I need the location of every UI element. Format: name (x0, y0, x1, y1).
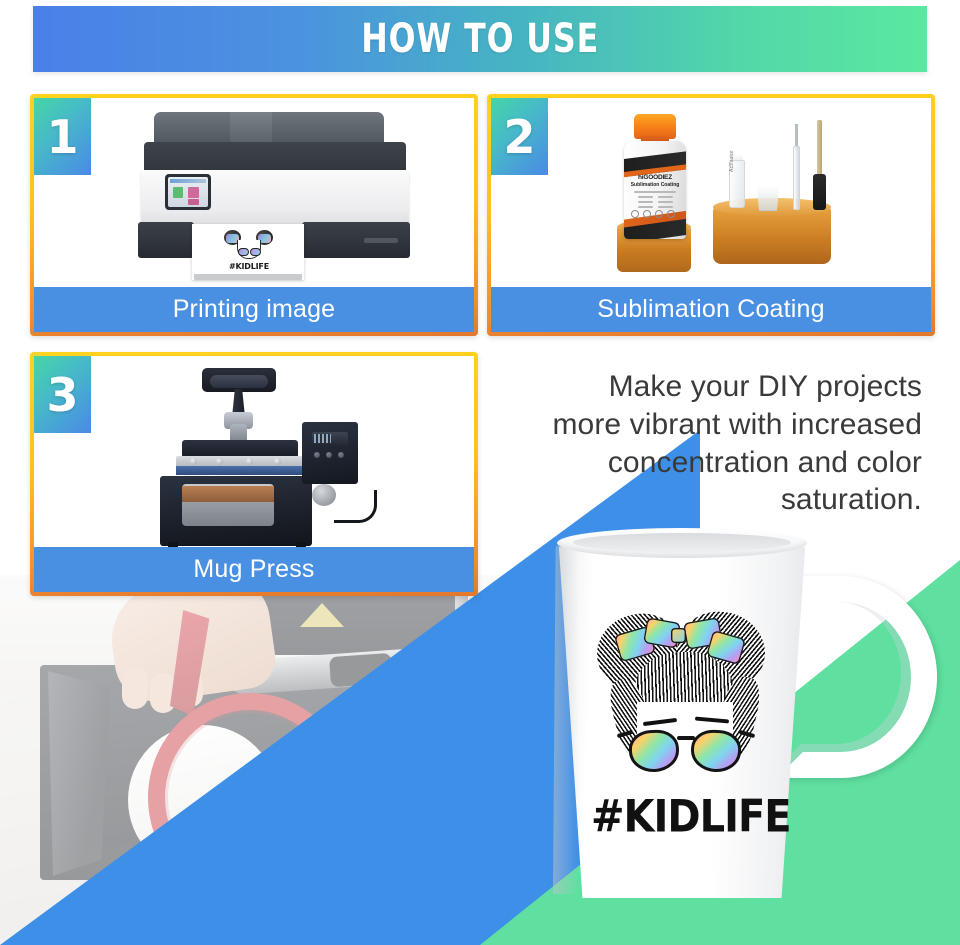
step-card-2: Activator hiGOODIEZ Sublimation Coating (487, 94, 935, 336)
step-card-3: 3 Mug Press (30, 352, 478, 596)
mug-artwork: #KIDLIFE (591, 606, 781, 836)
promo-line-4: saturation. (497, 481, 922, 519)
step-1-illustration: #KIDLIFE (34, 98, 474, 287)
promo-line-2: more vibrant with increased (497, 406, 922, 444)
coating-bottle: hiGOODIEZ Sublimation Coating (624, 141, 686, 239)
promo-line-3: concentration and color (497, 444, 922, 482)
printed-design-preview: #KIDLIFE (220, 228, 278, 276)
product-mug: #KIDLIFE (533, 528, 913, 908)
step-caption-bar-1: Printing image (34, 287, 474, 332)
bottle-brand-name: hiGOODIEZ (624, 174, 686, 181)
step-number-1: 1 (46, 114, 78, 160)
step-number-badge-2: 2 (491, 98, 548, 175)
step-number-2: 2 (503, 114, 535, 160)
printed-design-text: #KIDLIFE (220, 262, 278, 271)
promo-line-1: Make your DIY projects (497, 368, 922, 406)
step-number-3: 3 (46, 372, 78, 418)
step-number-badge-3: 3 (34, 356, 91, 433)
foam-brush (813, 174, 826, 210)
mug-design-text: #KIDLIFE (591, 791, 781, 843)
bottle-product-name: Sublimation Coating (624, 182, 686, 188)
page-title: HOW TO USE (361, 16, 599, 62)
measuring-cup (755, 186, 781, 211)
step-3-illustration (34, 356, 474, 547)
step-card-1: #KIDLIFE 1 Printing image (30, 94, 478, 336)
step-caption-1: Printing image (173, 295, 336, 324)
step-caption-3: Mug Press (193, 555, 314, 584)
step-2-illustration: Activator hiGOODIEZ Sublimation Coating (491, 98, 931, 287)
syringe (793, 146, 800, 210)
activator-label: Activator (729, 124, 735, 172)
step-caption-2: Sublimation Coating (597, 295, 825, 324)
promo-text: Make your DIY projects more vibrant with… (497, 368, 922, 519)
header-banner: HOW TO USE (33, 6, 927, 72)
step-number-badge-1: 1 (34, 98, 91, 175)
printer-touchscreen-icon (165, 174, 211, 210)
step-caption-bar-3: Mug Press (34, 547, 474, 592)
step-caption-bar-2: Sublimation Coating (491, 287, 931, 332)
